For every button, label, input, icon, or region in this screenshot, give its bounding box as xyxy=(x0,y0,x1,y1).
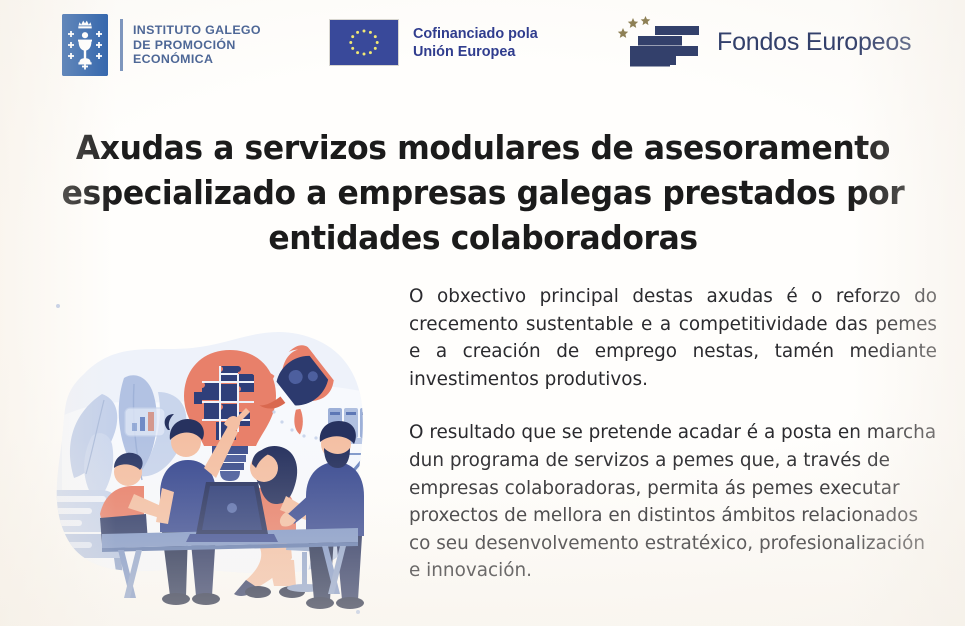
european-union-flag xyxy=(329,19,399,66)
logo-european-union: Cofinanciado pola Unión Europea xyxy=(329,19,538,66)
xunta-de-galicia-emblem xyxy=(62,14,108,76)
logo-igape: INSTITUTO GALEGO DE PROMOCIÓN ECONÓMICA xyxy=(62,14,261,76)
logo-european-union-text: Cofinanciado pola Unión Europea xyxy=(413,25,538,61)
logo-fondos-europeos: Fondos Europeos xyxy=(617,11,911,73)
body-text: O obxectivo principal destas axudas é o … xyxy=(409,283,937,585)
logo-igape-text: INSTITUTO GALEGO DE PROMOCIÓN ECONÓMICA xyxy=(133,23,261,67)
fondos-europeos-bars-mark xyxy=(617,11,709,73)
team-collaboration-illustration xyxy=(6,296,402,622)
page-title: Axudas a servizos modulares de asesorame… xyxy=(54,126,913,261)
logo-fondos-europeos-text: Fondos Europeos xyxy=(717,28,911,57)
logo-bar: INSTITUTO GALEGO DE PROMOCIÓN ECONÓMICA xyxy=(0,0,965,92)
logo-divider xyxy=(120,19,123,71)
paragraph-objective: O obxectivo principal destas axudas é o … xyxy=(409,283,937,393)
paragraph-result: O resultado que se pretende acadar é a p… xyxy=(409,419,937,585)
